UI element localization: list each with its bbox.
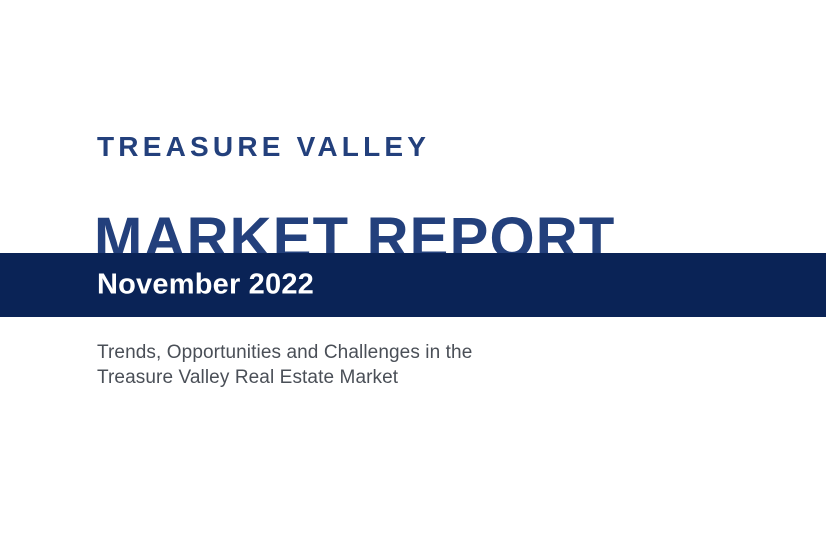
date-band: November 2022 (0, 253, 826, 317)
page-subtitle-line-2: Treasure Valley Real Estate Market (97, 365, 657, 390)
page-subtitle-line-1: Trends, Opportunities and Challenges in … (97, 340, 657, 365)
report-cover-page: TREASURE VALLEY MARKET REPORT November 2… (0, 0, 826, 548)
report-date-label: November 2022 (97, 271, 314, 300)
page-subtitle: Trends, Opportunities and Challenges in … (97, 340, 657, 391)
page-kicker: TREASURE VALLEY (97, 133, 430, 161)
